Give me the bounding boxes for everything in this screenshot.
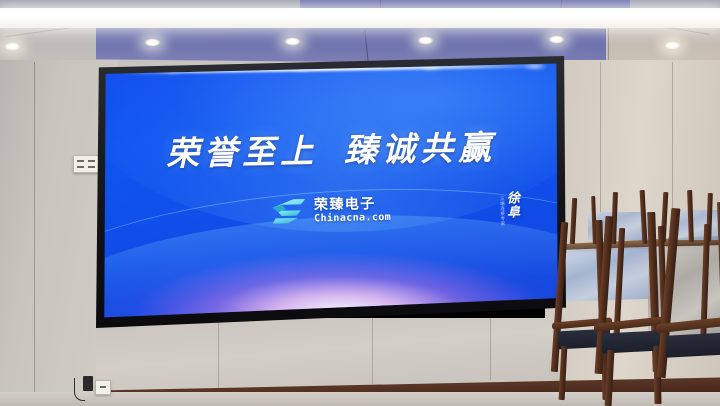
wall-socket-with-adapter[interactable] bbox=[95, 380, 111, 395]
wall-seam bbox=[672, 62, 673, 212]
headline-right-text: 臻诚共赢 bbox=[344, 131, 497, 170]
side-mark-small-text: 三端连接专家 bbox=[498, 191, 503, 226]
downlight-icon bbox=[144, 38, 161, 47]
logo-text-block: 荣臻电子 Chinacna.com bbox=[314, 197, 392, 224]
headline-left-text: 荣誉至上 bbox=[166, 134, 319, 173]
display-screen[interactable]: 荣誉至上臻诚共赢 bbox=[102, 62, 560, 320]
double-arrow-logo-icon bbox=[271, 198, 308, 226]
power-cable bbox=[74, 378, 85, 401]
downlight-icon bbox=[284, 37, 301, 46]
downlight-icon bbox=[548, 35, 565, 44]
display-side-mark: 三端连接专家 徐阜 bbox=[498, 191, 519, 226]
conference-room-photo: 荣誉至上臻诚共赢 bbox=[0, 0, 720, 406]
downlight-icon bbox=[417, 36, 434, 45]
side-mark-large-text: 徐阜 bbox=[505, 191, 519, 219]
logo-website: Chinacna.com bbox=[314, 213, 391, 224]
wall-seam bbox=[34, 62, 35, 406]
logo-company-name: 荣臻电子 bbox=[314, 197, 391, 212]
ceiling-strip-light bbox=[0, 8, 720, 28]
led-video-wall[interactable]: 荣誉至上臻诚共赢 bbox=[96, 56, 566, 328]
downlight-icon bbox=[4, 42, 21, 51]
downlight-icon bbox=[664, 41, 681, 50]
display-headline: 荣誉至上臻诚共赢 bbox=[102, 120, 560, 177]
wall-seam bbox=[218, 318, 219, 388]
